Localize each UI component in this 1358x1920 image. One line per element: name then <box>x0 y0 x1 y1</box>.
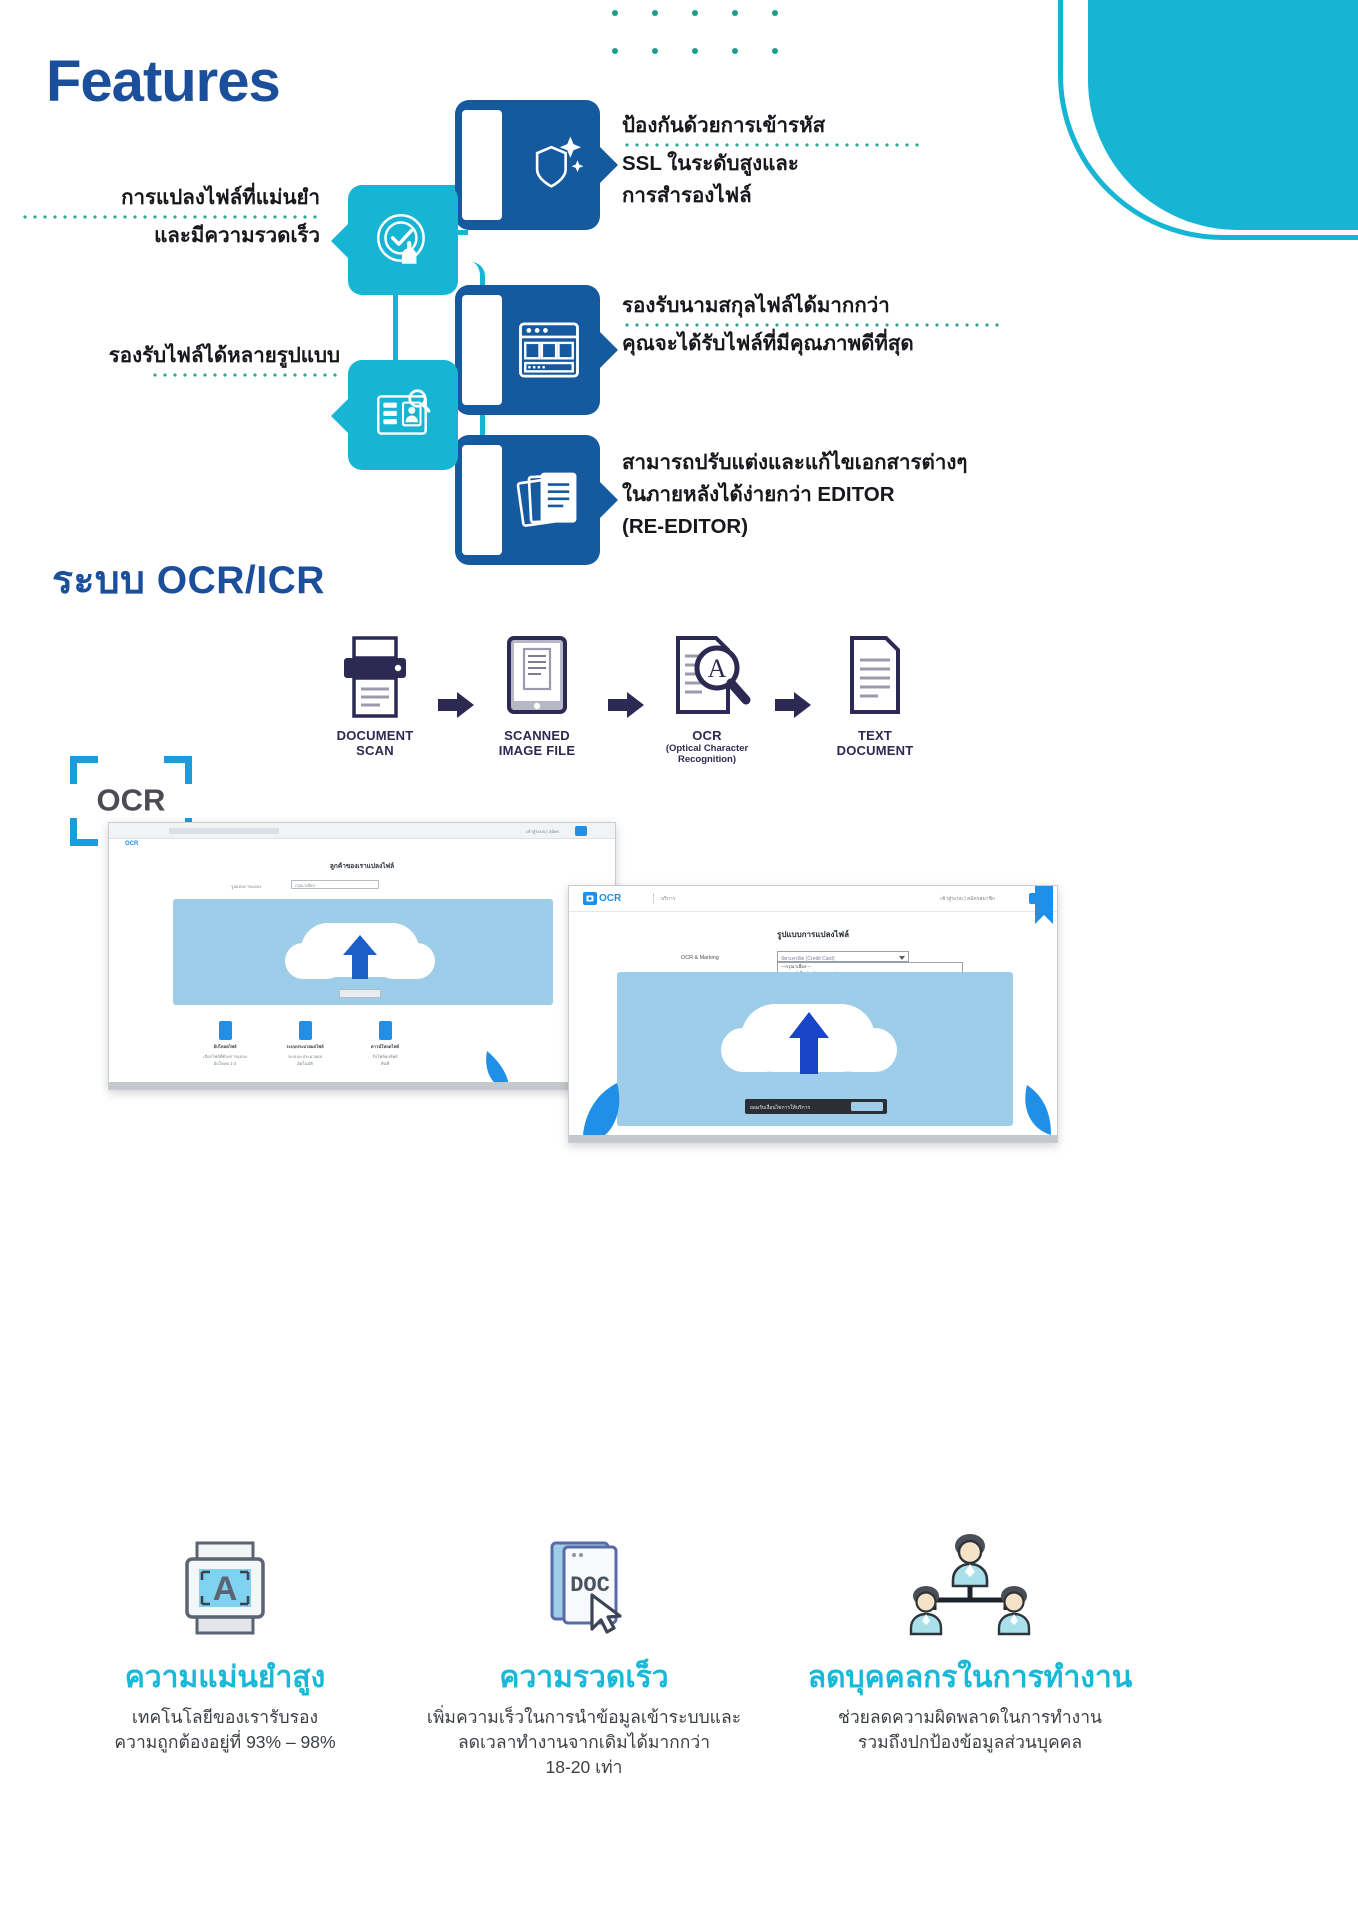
feature-card-encryption[interactable] <box>455 100 600 230</box>
benefit-title: ความแม่นยำสูง <box>40 1654 410 1701</box>
benefit-title: ลดบุคคลกรในการทำงาน <box>760 1654 1180 1701</box>
feature-line-1: การแปลงไฟล์ที่แม่นยำ <box>20 182 320 214</box>
svg-text:A: A <box>708 654 727 683</box>
window-footer <box>569 1135 1057 1142</box>
cloud-shape <box>375 943 435 979</box>
url-field[interactable] <box>169 828 279 834</box>
scanner-icon <box>320 634 430 722</box>
page-body: OCR ลูกค้าของเราแปลงไฟล์ รูปแบบการแปลง ก… <box>109 839 615 1089</box>
ocr-type-select[interactable]: บัตรเครดิต (Credit Card) <box>777 951 909 962</box>
upload-step-icon <box>219 1021 232 1040</box>
benefit-workforce: ลดบุคคลกรในการทำงาน ช่วยลดความผิดพลาดในก… <box>760 1528 1180 1755</box>
shield-sparkle-icon <box>511 127 587 203</box>
decorative-swoosh <box>1017 1081 1051 1135</box>
info-card: อัปโหลดไฟล์ เลือกไฟล์ที่ต้องการแปลง อัปโ… <box>205 1021 245 1061</box>
flow-sublabel: (Optical Character Recognition) <box>652 743 762 765</box>
benefit-desc-line-2: ความถูกต้องอยู่ที่ 93% – 98% <box>40 1730 410 1755</box>
field-label: รูปแบบการแปลง <box>231 883 261 890</box>
dotted-underline <box>150 373 340 377</box>
feature-line-3: (RE-EDITOR) <box>622 511 1022 543</box>
flow-step-document-scan: DOCUMENT SCAN <box>320 634 430 758</box>
team-people-icon <box>760 1528 1180 1648</box>
window-footer <box>109 1082 615 1089</box>
browse-button[interactable] <box>339 989 381 998</box>
dot <box>692 48 698 54</box>
benefit-desc-line-3: 18-20 เท่า <box>386 1755 782 1780</box>
magnifier-doc-icon: A <box>652 634 762 722</box>
dot <box>772 48 778 54</box>
benefit-accuracy: A ความแม่นยำสูง เทคโนโลยีของเรารับรอง คว… <box>40 1528 410 1755</box>
flow-step-text-document: TEXT DOCUMENT <box>820 634 930 758</box>
benefit-desc-line-2: รวมถึงปกป้องข้อมูลส่วนบุคคล <box>760 1730 1180 1755</box>
upload-arrow-icon <box>789 1012 829 1074</box>
app-screenshot-format-page[interactable]: OCR บริการ เข้าสู่ระบบ | สมัครสมาชิก รูป… <box>568 885 1058 1143</box>
dot <box>772 10 778 16</box>
dotted-underline <box>622 323 1002 327</box>
dot <box>692 10 698 16</box>
flow-step-scanned-image: SCANNED IMAGE FILE <box>482 634 592 758</box>
feature-card-multi-format[interactable] <box>348 360 458 470</box>
benefit-desc-line-1: ช่วยลดความผิดพลาดในการทำงาน <box>760 1705 1180 1730</box>
feature-card-re-editor[interactable] <box>455 435 600 565</box>
id-card-search-icon <box>370 382 436 448</box>
feature-line-2: คุณจะได้รับไฟล์ที่มีคุณภาพดีที่สุด <box>622 328 1002 360</box>
feature-line-3: การสำรองไฟล์ <box>622 180 922 212</box>
benefit-speed: DOC ความรวดเร็ว เพิ่มความเร็วในการนำข้อม… <box>386 1528 782 1780</box>
info-card-desc: รับไฟล์ผลลัพธ์ ทันที <box>359 1053 411 1067</box>
brand-logo: OCR <box>125 841 138 847</box>
file-formats-window-icon <box>511 312 587 388</box>
page-body: OCR บริการ เข้าสู่ระบบ | สมัครสมาชิก รูป… <box>569 886 1057 1142</box>
benefit-desc-line-2: ลดเวลาทำงานจากเดิมได้มากกว่า <box>386 1730 782 1755</box>
text-document-icon <box>820 634 930 722</box>
card-notch <box>462 110 502 220</box>
feature-line-2: SSL ในระดับสูงและ <box>622 148 922 180</box>
field-label: OCR & Marking <box>681 955 719 961</box>
info-card: ระบบประมวลผลไฟล์ ระบบจะประมวลผล อัตโนมัต… <box>285 1021 325 1061</box>
info-card-title: ดาวน์โหลดไฟล์ <box>359 1043 411 1050</box>
upload-arrow-icon <box>343 935 377 979</box>
decorative-swoosh <box>583 1083 629 1135</box>
flow-label: TEXT DOCUMENT <box>820 728 930 758</box>
benefit-desc-line-1: เพิ่มความเร็วในการนำข้อมูลเข้าระบบและ <box>386 1705 782 1730</box>
doc-cursor-icon: DOC <box>386 1528 782 1648</box>
topbar-right-text: เข้าสู่ระบบ | สมัคร <box>526 828 559 835</box>
brand-scan-icon <box>583 892 599 906</box>
card-pointer <box>599 146 618 184</box>
info-card-title: อัปโหลดไฟล์ <box>205 1043 245 1050</box>
feature-line-1: รองรับไฟล์ได้หลายรูปแบบ <box>20 340 340 372</box>
tablet-document-icon <box>482 634 592 722</box>
browser-bar: เข้าสู่ระบบ | สมัคร <box>109 823 615 839</box>
dot-grid-decoration <box>612 10 792 65</box>
flow-label: OCR <box>652 728 762 743</box>
dotted-underline <box>20 215 320 219</box>
menu-item[interactable]: บริการ <box>661 895 675 903</box>
card-pointer <box>599 481 618 519</box>
download-step-icon <box>379 1021 392 1040</box>
feature-line-1: รองรับนามสกุลไฟล์ได้มากกว่า <box>622 290 1002 322</box>
flow-step-ocr: A OCR (Optical Character Recognition) <box>652 634 762 765</box>
scan-bracket-top-left <box>70 756 98 784</box>
decorative-blob <box>938 0 1358 270</box>
ocr-accuracy-scan-icon: A <box>40 1528 410 1648</box>
card-pointer <box>331 398 349 434</box>
ocr-flow-diagram: DOCUMENT SCAN SCANNED IMAGE FILE <box>320 634 940 794</box>
cookie-consent-bar[interactable]: ยอมรับเงื่อนไขการให้บริการ <box>745 1099 887 1114</box>
brand-name: OCR <box>599 893 621 904</box>
svg-text:A: A <box>213 1570 238 1608</box>
consent-text: ยอมรับเงื่อนไขการให้บริการ <box>750 1104 810 1112</box>
chevron-down-icon <box>899 956 905 960</box>
header-divider <box>653 893 654 904</box>
info-card-desc: ระบบจะประมวลผล อัตโนมัติ <box>279 1053 331 1067</box>
app-screenshot-upload-page[interactable]: เข้าสู่ระบบ | สมัคร OCR ลูกค้าของเราแปลง… <box>108 822 616 1090</box>
page-heading: ลูกค้าของเราแปลงไฟล์ <box>330 861 394 871</box>
ocr-badge-label: OCR <box>70 782 192 818</box>
benefit-desc-line-1: เทคโนโลยีของเรารับรอง <box>40 1705 410 1730</box>
dot <box>732 10 738 16</box>
feature-line-1: ป้องกันด้วยการเข้ารหัส <box>622 110 922 142</box>
feature-card-file-formats[interactable] <box>455 285 600 415</box>
dot <box>732 48 738 54</box>
flow-label: DOCUMENT SCAN <box>320 728 430 758</box>
dot <box>652 48 658 54</box>
feature-card-accuracy-speed[interactable] <box>348 185 458 295</box>
dotted-underline <box>622 143 922 147</box>
right-arrow-icon <box>438 692 474 718</box>
header-account-text: เข้าสู่ระบบ | สมัครสมาชิก <box>940 895 995 903</box>
card-notch <box>462 445 502 555</box>
consent-accept-button[interactable] <box>851 1102 883 1111</box>
dot <box>612 48 618 54</box>
feature-text-encryption: ป้องกันด้วยการเข้ารหัส SSL ในระดับสูงและ… <box>622 110 922 212</box>
card-pointer <box>331 223 349 259</box>
flow-label: SCANNED IMAGE FILE <box>482 728 592 758</box>
account-button[interactable] <box>575 826 587 836</box>
card-pointer <box>599 331 618 369</box>
benefit-title: ความรวดเร็ว <box>386 1654 782 1701</box>
page-title-features: Features <box>46 48 280 115</box>
section-title-ocr: ระบบ OCR/ICR <box>52 549 325 611</box>
process-step-icon <box>299 1021 312 1040</box>
format-select-value: กรุณาเลือก <box>295 882 315 889</box>
info-card-desc: เลือกไฟล์ที่ต้องการแปลง อัปโหลด 1-2 <box>199 1053 251 1067</box>
scan-bracket-bottom-left <box>70 818 98 846</box>
card-notch <box>462 295 502 405</box>
svg-text:DOC: DOC <box>570 1573 610 1598</box>
feature-line-1: สามารถปรับแต่งและแก้ไขเอกสารต่างๆ <box>622 447 1022 479</box>
accuracy-check-hand-icon <box>370 207 436 273</box>
feature-text-accuracy-speed: การแปลงไฟล์ที่แม่นยำ และมีความรวดเร็ว <box>20 182 320 252</box>
cloud-shape <box>285 943 345 979</box>
bookmark-ribbon-icon <box>1035 885 1053 924</box>
dot <box>612 10 618 16</box>
info-card-title: ระบบประมวลผลไฟล์ <box>279 1043 331 1050</box>
cloud-shape <box>721 1028 787 1072</box>
cloud-shape <box>831 1028 897 1072</box>
feature-text-file-formats: รองรับนามสกุลไฟล์ได้มากกว่า คุณจะได้รับไ… <box>622 290 1002 360</box>
dropdown-option[interactable]: ---กรุณาเลือก--- <box>778 963 962 971</box>
documents-stack-icon <box>511 462 587 538</box>
feature-text-re-editor: สามารถปรับแต่งและแก้ไขเอกสารต่างๆ ในภายห… <box>622 447 1022 543</box>
right-arrow-icon <box>608 692 644 718</box>
feature-line-2: ในภายหลังได้ง่ายกว่า EDITOR <box>622 479 1022 511</box>
scan-bracket-top-right <box>164 756 192 784</box>
info-card: ดาวน์โหลดไฟล์ รับไฟล์ผลลัพธ์ ทันที <box>365 1021 405 1061</box>
feature-text-multi-format: รองรับไฟล์ได้หลายรูปแบบ <box>20 340 340 378</box>
page-heading: รูปแบบการแปลงไฟล์ <box>777 928 849 941</box>
feature-line-2: และมีความรวดเร็ว <box>20 220 320 252</box>
right-arrow-icon <box>775 692 811 718</box>
dot <box>652 10 658 16</box>
